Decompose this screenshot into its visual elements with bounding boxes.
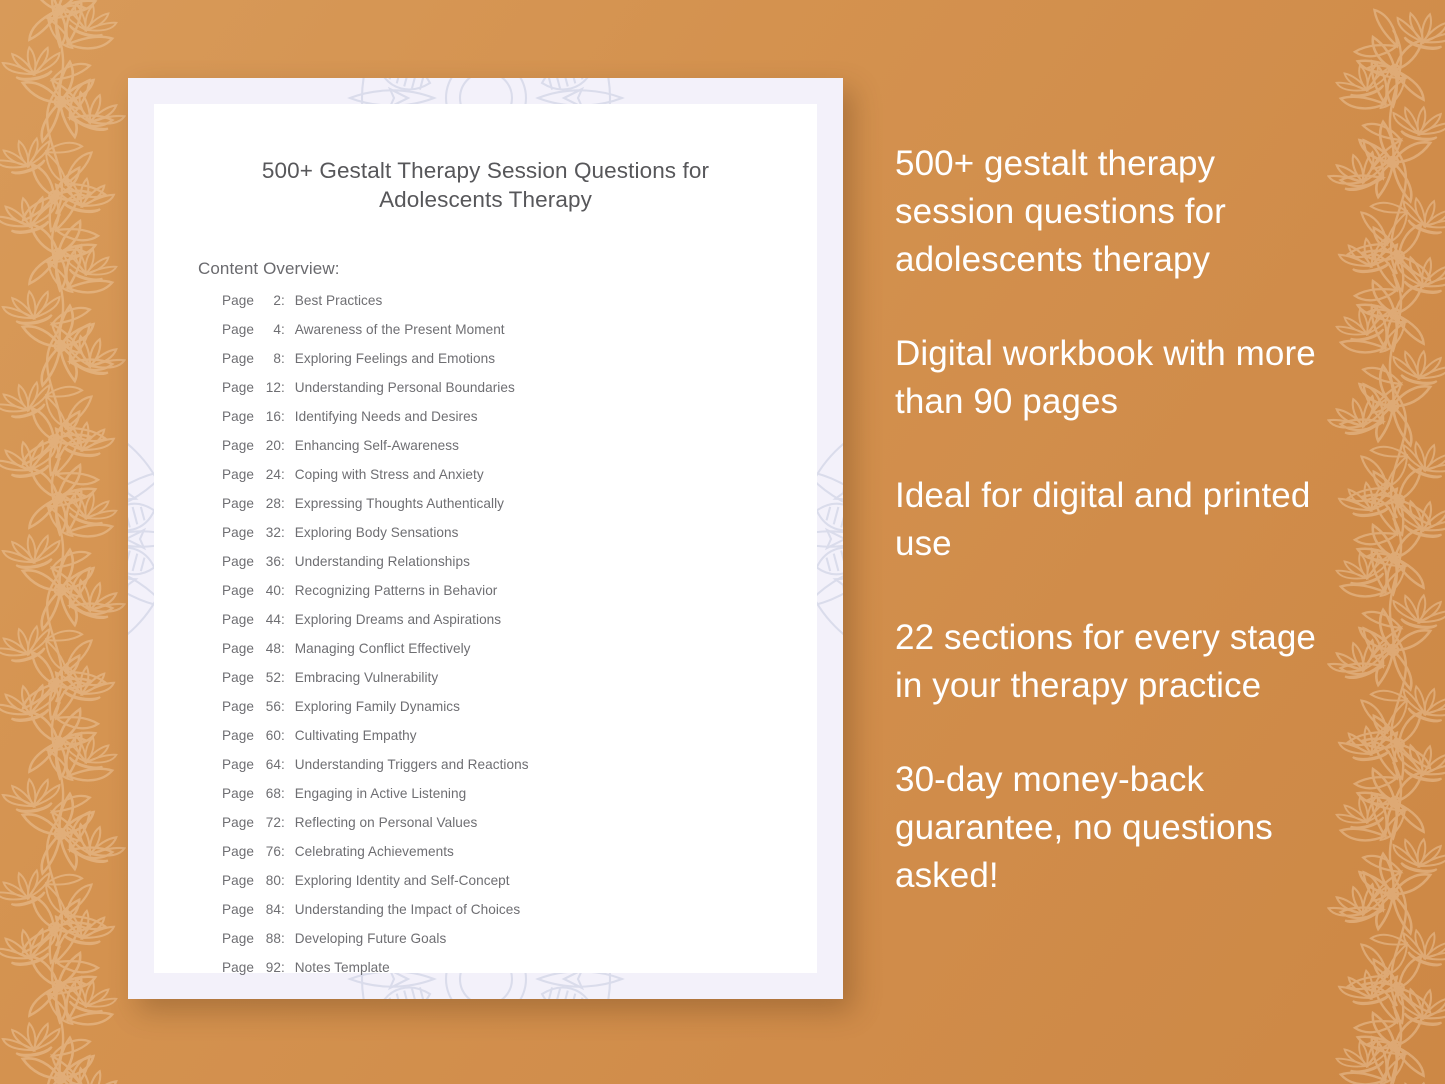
toc-entry-title: Managing Conflict Effectively [295,641,471,656]
toc-page-number: 56 [259,699,281,714]
toc-entry-title: Best Practices [295,293,383,308]
toc-colon: : [281,815,285,830]
toc-entry: Page4:Awareness of the Present Moment [222,322,817,351]
toc-page-word: Page [222,670,254,685]
toc-colon: : [281,931,285,946]
toc-page-number: 28 [259,496,281,511]
toc-entry: Page60:Cultivating Empathy [222,728,817,757]
toc-colon: : [281,902,285,917]
toc-page-number: 32 [259,525,281,540]
toc-colon: : [281,786,285,801]
toc-entry: Page44:Exploring Dreams and Aspirations [222,612,817,641]
toc-page-word: Page [222,467,254,482]
floral-vine-border-left-icon [0,0,126,1084]
toc-page-word: Page [222,641,254,656]
toc-page-number: 20 [259,438,281,453]
toc-entry: Page64:Understanding Triggers and Reacti… [222,757,817,786]
toc-entry-title: Exploring Identity and Self-Concept [295,873,510,888]
content-overview-label: Content Overview: [154,214,817,279]
toc-entry: Page32:Exploring Body Sensations [222,525,817,554]
toc-entry-title: Reflecting on Personal Values [295,815,478,830]
toc-colon: : [281,554,285,569]
toc-page-word: Page [222,583,254,598]
toc-entry: Page12:Understanding Personal Boundaries [222,380,817,409]
toc-page-word: Page [222,496,254,511]
toc-entry: Page16:Identifying Needs and Desires [222,409,817,438]
toc-entry: Page68:Engaging in Active Listening [222,786,817,815]
toc-page-number: 60 [259,728,281,743]
toc-entry-title: Embracing Vulnerability [295,670,438,685]
toc-entry-title: Understanding Triggers and Reactions [295,757,529,772]
toc-page-word: Page [222,351,254,366]
toc-entry: Page92:Notes Template [222,960,817,989]
toc-colon: : [281,670,285,685]
toc-entry-title: Engaging in Active Listening [295,786,466,801]
toc-page-word: Page [222,699,254,714]
toc-entry-title: Exploring Family Dynamics [295,699,460,714]
toc-colon: : [281,467,285,482]
promo-line: Digital workbook with more than 90 pages [895,330,1323,426]
toc-page-number: 84 [259,902,281,917]
toc-entry-title: Cultivating Empathy [295,728,417,743]
toc-entry: Page2:Best Practices [222,293,817,322]
toc-entry: Page48:Managing Conflict Effectively [222,641,817,670]
toc-page-word: Page [222,902,254,917]
toc-entry-title: Coping with Stress and Anxiety [295,467,484,482]
toc-entry: Page28:Expressing Thoughts Authentically [222,496,817,525]
toc-colon: : [281,844,285,859]
toc-page-word: Page [222,728,254,743]
toc-entry: Page72:Reflecting on Personal Values [222,815,817,844]
toc-page-number: 72 [259,815,281,830]
promo-line: Ideal for digital and printed use [895,472,1323,568]
toc-page-number: 40 [259,583,281,598]
toc-colon: : [281,583,285,598]
toc-page-word: Page [222,293,254,308]
toc-page-word: Page [222,815,254,830]
toc-page-number: 2 [259,293,281,308]
toc-colon: : [281,293,285,308]
toc-page-word: Page [222,844,254,859]
toc-entry: Page24:Coping with Stress and Anxiety [222,467,817,496]
toc-page-number: 48 [259,641,281,656]
toc-page-number: 52 [259,670,281,685]
toc-page-number: 24 [259,467,281,482]
toc-entry: Page80:Exploring Identity and Self-Conce… [222,873,817,902]
toc-colon: : [281,380,285,395]
toc-page-word: Page [222,554,254,569]
toc-page-word: Page [222,873,254,888]
toc-page-number: 4 [259,322,281,337]
toc-entry-title: Exploring Dreams and Aspirations [295,612,501,627]
table-of-contents: Page2:Best PracticesPage4:Awareness of t… [154,279,817,989]
toc-colon: : [281,757,285,772]
toc-page-number: 80 [259,873,281,888]
toc-page-word: Page [222,931,254,946]
toc-page-word: Page [222,322,254,337]
toc-page-number: 64 [259,757,281,772]
toc-page-number: 8 [259,351,281,366]
toc-page-word: Page [222,438,254,453]
toc-colon: : [281,641,285,656]
toc-entry: Page40:Recognizing Patterns in Behavior [222,583,817,612]
toc-entry-title: Enhancing Self-Awareness [295,438,459,453]
toc-page-word: Page [222,380,254,395]
toc-entry-title: Awareness of the Present Moment [295,322,505,337]
toc-entry-title: Exploring Feelings and Emotions [295,351,495,366]
toc-page-word: Page [222,409,254,424]
promo-line: 500+ gestalt therapy session questions f… [895,140,1323,284]
toc-entry: Page88:Developing Future Goals [222,931,817,960]
toc-colon: : [281,322,285,337]
toc-page-word: Page [222,525,254,540]
toc-colon: : [281,728,285,743]
promo-text-block: 500+ gestalt therapy session questions f… [895,140,1323,900]
toc-colon: : [281,438,285,453]
toc-entry-title: Developing Future Goals [295,931,447,946]
toc-page-number: 12 [259,380,281,395]
toc-page-number: 68 [259,786,281,801]
toc-page-word: Page [222,786,254,801]
toc-page-word: Page [222,960,254,975]
product-listing-graphic: 500+ Gestalt Therapy Session Questions f… [0,0,1445,1084]
toc-page-number: 16 [259,409,281,424]
toc-entry: Page20:Enhancing Self-Awareness [222,438,817,467]
toc-colon: : [281,960,285,975]
toc-page-number: 88 [259,931,281,946]
toc-page-number: 92 [259,960,281,975]
toc-entry: Page8:Exploring Feelings and Emotions [222,351,817,380]
toc-colon: : [281,699,285,714]
document-preview-card: 500+ Gestalt Therapy Session Questions f… [128,78,843,999]
toc-page-number: 44 [259,612,281,627]
toc-entry-title: Identifying Needs and Desires [295,409,478,424]
floral-vine-border-right-icon [1327,0,1445,1084]
toc-entry-title: Exploring Body Sensations [295,525,459,540]
toc-page-word: Page [222,612,254,627]
toc-colon: : [281,496,285,511]
promo-line: 22 sections for every stage in your ther… [895,614,1323,710]
toc-page-number: 36 [259,554,281,569]
toc-colon: : [281,873,285,888]
toc-colon: : [281,351,285,366]
toc-entry-title: Understanding Personal Boundaries [295,380,515,395]
toc-entry-title: Notes Template [295,960,390,975]
toc-entry-title: Recognizing Patterns in Behavior [295,583,498,598]
toc-colon: : [281,525,285,540]
toc-entry: Page76:Celebrating Achievements [222,844,817,873]
promo-line: 30-day money-back guarantee, no question… [895,756,1323,900]
toc-entry: Page56:Exploring Family Dynamics [222,699,817,728]
toc-entry: Page84:Understanding the Impact of Choic… [222,902,817,931]
toc-colon: : [281,409,285,424]
toc-entry-title: Celebrating Achievements [295,844,454,859]
toc-entry: Page36:Understanding Relationships [222,554,817,583]
page-title: 500+ Gestalt Therapy Session Questions f… [154,104,817,214]
toc-page-word: Page [222,757,254,772]
toc-entry-title: Understanding Relationships [295,554,470,569]
toc-entry-title: Understanding the Impact of Choices [295,902,520,917]
toc-entry: Page52:Embracing Vulnerability [222,670,817,699]
toc-colon: : [281,612,285,627]
toc-page-number: 76 [259,844,281,859]
toc-entry-title: Expressing Thoughts Authentically [295,496,504,511]
document-page: 500+ Gestalt Therapy Session Questions f… [154,104,817,973]
